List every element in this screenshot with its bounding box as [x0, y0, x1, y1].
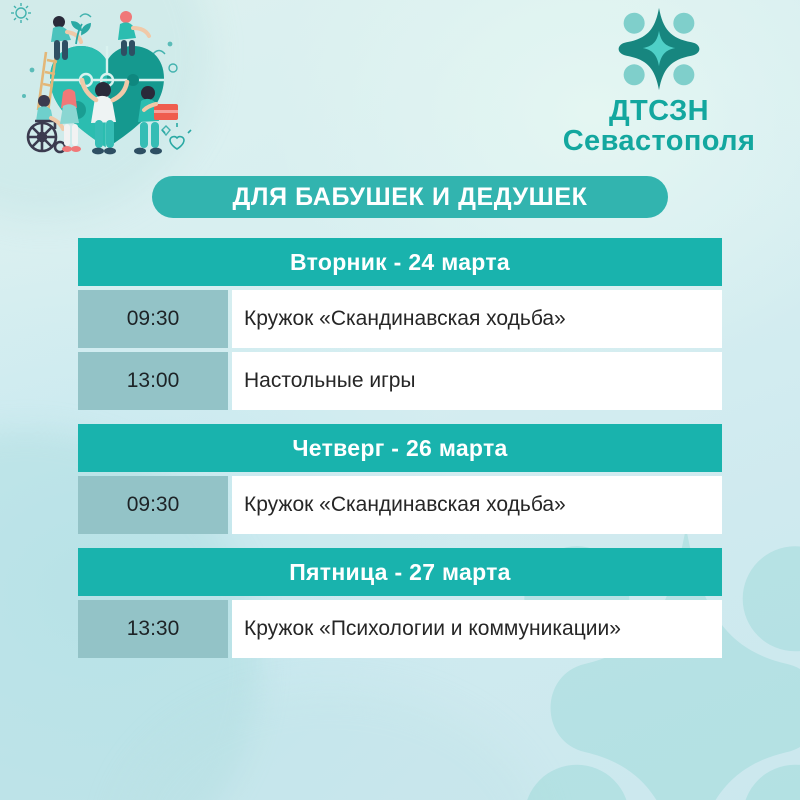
day-header: Четверг - 26 марта: [78, 424, 722, 472]
row-time: 09:30: [78, 476, 228, 534]
day-block: Пятница - 27 марта13:30Кружок «Психологи…: [78, 548, 722, 658]
day-header: Вторник - 24 марта: [78, 238, 722, 286]
four-point-star-logo-icon: [611, 6, 707, 92]
schedule-row: 13:00Настольные игры: [78, 352, 722, 410]
poster-canvas: ДТСЗН Севастополя ДЛЯ БАБУШЕК И ДЕДУШЕК …: [0, 0, 800, 800]
row-activity: Кружок «Скандинавская ходьба»: [232, 476, 722, 534]
background-blob-bottom: [120, 690, 540, 800]
schedule-row: 09:30Кружок «Скандинавская ходьба»: [78, 290, 722, 348]
brand-logo: ДТСЗН Севастополя: [534, 6, 784, 156]
day-block: Вторник - 24 марта09:30Кружок «Скандинав…: [78, 238, 722, 410]
row-activity: Кружок «Скандинавская ходьба»: [232, 290, 722, 348]
row-time: 09:30: [78, 290, 228, 348]
brand-line-2: Севастополя: [534, 126, 784, 156]
day-header: Пятница - 27 марта: [78, 548, 722, 596]
schedule-row: 13:30Кружок «Психологии и коммуникации»: [78, 600, 722, 658]
schedule-row: 09:30Кружок «Скандинавская ходьба»: [78, 476, 722, 534]
row-activity: Настольные игры: [232, 352, 722, 410]
row-time: 13:30: [78, 600, 228, 658]
row-activity: Кружок «Психологии и коммуникации»: [232, 600, 722, 658]
schedule-table: Вторник - 24 марта09:30Кружок «Скандинав…: [78, 238, 722, 658]
headline-banner: ДЛЯ БАБУШЕК И ДЕДУШЕК: [152, 176, 668, 218]
row-time: 13:00: [78, 352, 228, 410]
day-block: Четверг - 26 марта09:30Кружок «Скандинав…: [78, 424, 722, 534]
puzzle-heart-illustration: [2, 0, 212, 170]
brand-line-1: ДТСЗН: [534, 96, 784, 126]
